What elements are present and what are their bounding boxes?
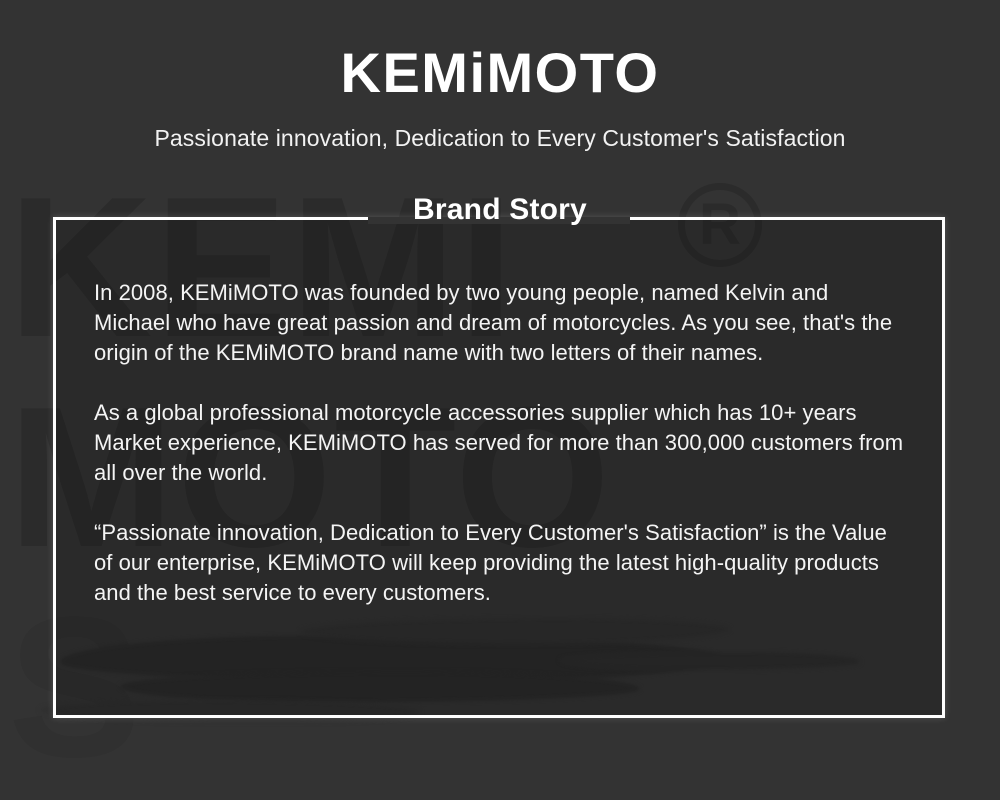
- story-paragraph: As a global professional motorcycle acce…: [94, 398, 906, 488]
- story-paragraph: “Passionate innovation, Dedication to Ev…: [94, 518, 906, 608]
- banner-header: KEMiMOTO Passionate innovation, Dedicati…: [0, 0, 1000, 152]
- story-section-title: Brand Story: [0, 192, 1000, 228]
- brand-story-banner: KEMI MOTO S R KEMiMOTO Passionate innova…: [0, 0, 1000, 800]
- story-paragraph: In 2008, KEMiMOTO was founded by two you…: [94, 278, 906, 368]
- story-body: In 2008, KEMiMOTO was founded by two you…: [94, 278, 906, 608]
- brand-logo: KEMiMOTO: [0, 0, 1000, 103]
- brand-tagline: Passionate innovation, Dedication to Eve…: [0, 103, 1000, 152]
